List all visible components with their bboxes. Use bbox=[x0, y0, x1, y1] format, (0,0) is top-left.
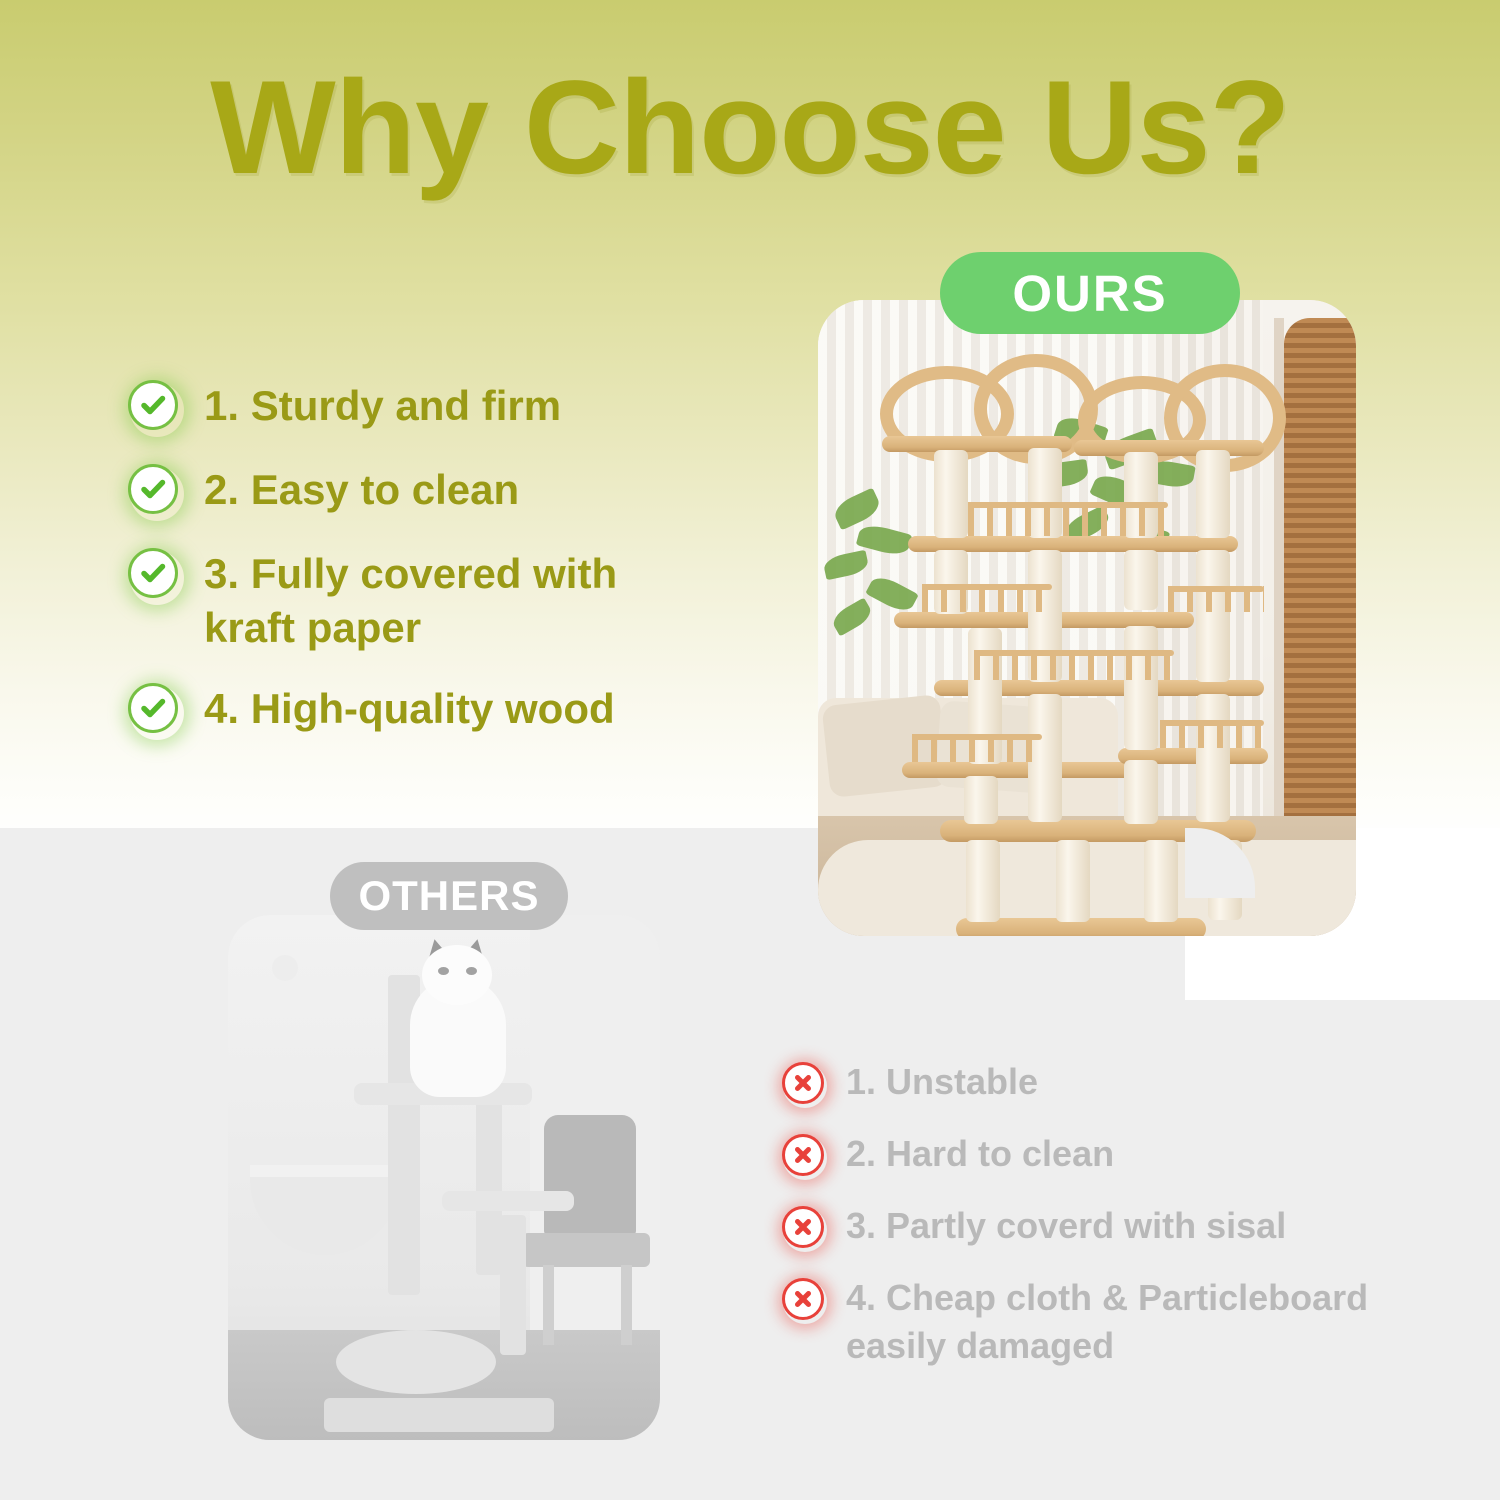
list-item: 2. Easy to clean bbox=[128, 462, 768, 520]
pros-item-label: 2. Easy to clean bbox=[204, 462, 519, 517]
check-circle-icon bbox=[128, 683, 184, 739]
pros-item-label: 4. High-quality wood bbox=[204, 681, 615, 736]
list-item: 4. Cheap cloth & Particleboard easily da… bbox=[782, 1274, 1482, 1370]
list-item: 4. High-quality wood bbox=[128, 681, 768, 739]
x-circle-shape bbox=[782, 1134, 824, 1176]
page-title: Why Choose Us? bbox=[0, 62, 1500, 195]
x-circle-icon bbox=[782, 1206, 828, 1252]
x-circle-icon bbox=[782, 1134, 828, 1180]
cat-head bbox=[422, 945, 492, 1005]
check-circle-shape bbox=[128, 464, 178, 514]
check-circle-shape bbox=[128, 380, 178, 430]
ours-scene bbox=[818, 300, 1356, 936]
cons-item-label: 1. Unstable bbox=[846, 1058, 1038, 1106]
chair-back bbox=[544, 1115, 636, 1235]
x-circle-icon bbox=[782, 1062, 828, 1108]
list-item: 3. Fully covered with kraft paper bbox=[128, 546, 768, 655]
list-item: 1. Unstable bbox=[782, 1058, 1482, 1108]
cons-item-label: 2. Hard to clean bbox=[846, 1130, 1114, 1178]
ours-badge: OURS bbox=[940, 252, 1240, 334]
cons-item-label: 4. Cheap cloth & Particleboard easily da… bbox=[846, 1274, 1368, 1370]
toy-ball-icon bbox=[272, 955, 298, 981]
chair bbox=[520, 1115, 650, 1345]
others-badge: OTHERS bbox=[330, 862, 568, 930]
ours-product-photo bbox=[818, 300, 1356, 936]
pros-list: 1. Sturdy and firm 2. Easy to clean bbox=[128, 378, 768, 739]
pros-item-label: 3. Fully covered with kraft paper bbox=[204, 546, 617, 655]
tower-base bbox=[324, 1398, 554, 1432]
check-circle-icon bbox=[128, 380, 184, 436]
list-item: 3. Partly coverd with sisal bbox=[782, 1202, 1482, 1252]
chair-seat bbox=[522, 1233, 650, 1267]
cat-tower bbox=[878, 340, 1298, 900]
list-item: 2. Hard to clean bbox=[782, 1130, 1482, 1180]
x-circle-shape bbox=[782, 1206, 824, 1248]
others-product-photo bbox=[228, 915, 660, 1440]
infographic-stage: Why Choose Us? 1. Sturdy and firm bbox=[0, 0, 1500, 1500]
cat-bed bbox=[336, 1330, 496, 1394]
check-circle-shape bbox=[128, 548, 178, 598]
list-item: 1. Sturdy and firm bbox=[128, 378, 768, 436]
x-circle-icon bbox=[782, 1278, 828, 1324]
x-circle-shape bbox=[782, 1278, 824, 1320]
check-circle-shape bbox=[128, 683, 178, 733]
cons-item-label: 3. Partly coverd with sisal bbox=[846, 1202, 1286, 1250]
check-circle-icon bbox=[128, 548, 184, 604]
x-circle-shape bbox=[782, 1062, 824, 1104]
cat bbox=[396, 937, 516, 1097]
others-scene bbox=[228, 915, 660, 1440]
check-circle-icon bbox=[128, 464, 184, 520]
cons-list: 1. Unstable 2. Hard to clean bbox=[782, 1058, 1482, 1370]
pros-item-label: 1. Sturdy and firm bbox=[204, 378, 561, 433]
